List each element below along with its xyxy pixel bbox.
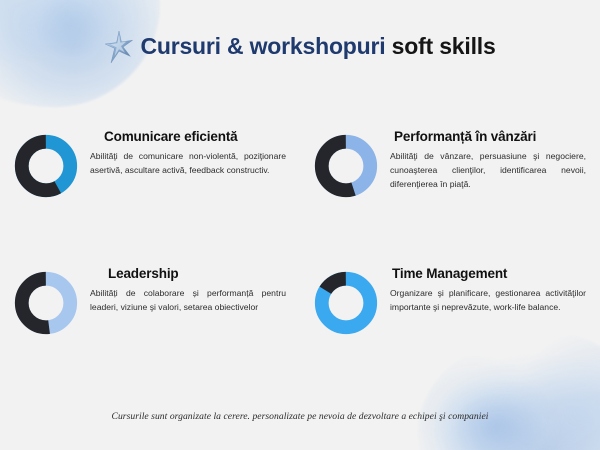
card-body-leadership: Abilități de colaborare și performanță p… [90,287,286,315]
page-title-part-1: Cursuri & workshopuri [140,33,385,59]
card-text-leadership: Leadership Abilități de colaborare și pe… [90,265,286,315]
page-title-part-2: soft skills [392,33,496,59]
donut-chart-time-management [314,271,378,335]
card-body-comunicare: Abilităţi de comunicare non-violentă, po… [90,150,286,178]
card-leadership[interactable]: Leadership Abilități de colaborare și pe… [0,255,300,392]
donut-chart-time-management-wrapper [314,271,378,335]
donut-chart-comunicare [14,134,78,198]
slide-footer: Cursurile sunt organizate la cerere. per… [0,406,600,424]
donut-chart-leadership [14,271,78,335]
slide-canvas: Cursuri & workshopuri soft skills Comuni… [0,0,600,450]
card-title-leadership: Leadership [90,267,286,282]
donut-chart-comunicare-wrapper [14,134,78,198]
card-title-time-management: Time Management [390,267,586,282]
slide-header: Cursuri & workshopuri soft skills [0,28,600,64]
donut-chart-vanzari-wrapper [314,134,378,198]
card-body-time-management: Organizare şi planificare, gestionarea a… [390,287,586,315]
sparkle-star-icon [104,30,134,64]
card-performanta-in-vanzari[interactable]: Performanță în vânzări Abilităţi de vânz… [300,118,600,255]
card-text-vanzari: Performanță în vânzări Abilităţi de vânz… [390,128,586,192]
card-title-vanzari: Performanță în vânzări [390,130,586,145]
card-body-vanzari: Abilităţi de vânzare, persuasiune şi neg… [390,150,586,192]
card-text-time-management: Time Management Organizare şi planificar… [390,265,586,315]
page-title: Cursuri & workshopuri soft skills [140,35,495,58]
card-title-comunicare: Comunicare eficientă [90,130,286,145]
donut-chart-vanzari [314,134,378,198]
donut-chart-leadership-wrapper [14,271,78,335]
card-comunicare-eficienta[interactable]: Comunicare eficientă Abilităţi de comuni… [0,118,300,255]
cards-grid: Comunicare eficientă Abilităţi de comuni… [0,118,600,392]
footer-note: Cursurile sunt organizate la cerere. per… [112,411,489,422]
card-time-management[interactable]: Time Management Organizare şi planificar… [300,255,600,392]
card-text-comunicare: Comunicare eficientă Abilităţi de comuni… [90,128,286,178]
